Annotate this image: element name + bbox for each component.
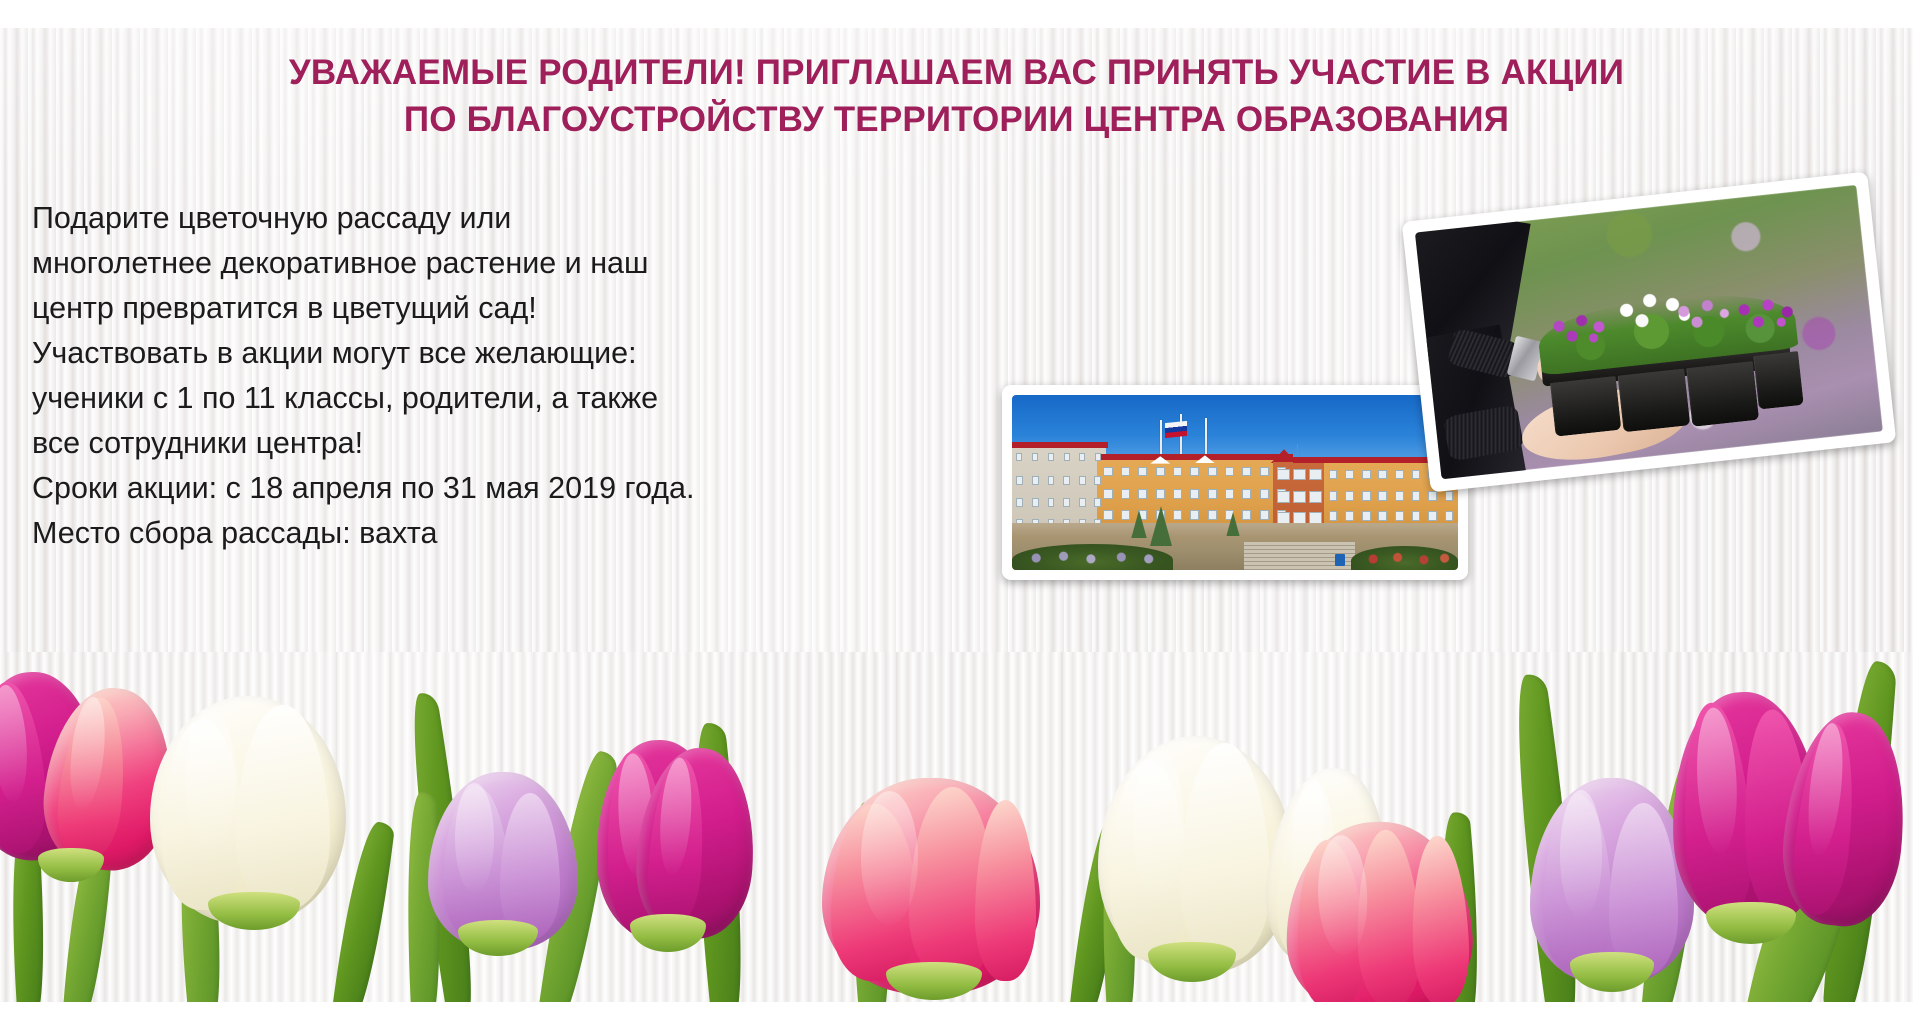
school-photo-image [1012, 395, 1458, 570]
window-row [1329, 491, 1454, 501]
blue-sign-board [1335, 554, 1345, 566]
window-row [1103, 489, 1286, 499]
window-row [1277, 469, 1322, 480]
top-white-band [0, 0, 1913, 28]
tray-cell [1618, 368, 1690, 432]
russian-flag-icon [1165, 421, 1187, 438]
flower-seedlings-photo [1402, 172, 1897, 493]
red-flowers [1360, 551, 1454, 567]
window-row [1103, 467, 1286, 476]
fir-tree-icon [1226, 512, 1239, 536]
window-row [1016, 476, 1101, 485]
fir-tree-icon [1131, 510, 1146, 538]
tray-cell [1753, 351, 1803, 410]
fir-tree-icon [1150, 506, 1172, 546]
tray-cell [1550, 376, 1622, 437]
page-title: УВАЖАЕМЫЕ РОДИТЕЛИ! ПРИГЛАШАЕМ ВАС ПРИНЯ… [0, 50, 1913, 143]
announcement-body-text: Подарите цветочную рассаду или многолетн… [32, 196, 852, 556]
window-row [1016, 498, 1101, 507]
poster-canvas: УВАЖАЕМЫЕ РОДИТЕЛИ! ПРИГЛАШАЕМ ВАС ПРИНЯ… [0, 0, 1913, 1030]
window-row [1016, 453, 1101, 461]
tulip-bottom-border [0, 652, 1913, 1002]
seedlings-photo-image [1415, 185, 1883, 480]
tray-cell [1686, 361, 1759, 427]
left-wing-roof [1012, 442, 1108, 448]
window-row [1329, 511, 1454, 521]
school-building-photo [1002, 385, 1468, 580]
bottom-white-band [0, 1002, 1913, 1030]
iris-flowers [1021, 549, 1173, 567]
window-row [1277, 491, 1322, 503]
tulip-flower [150, 696, 346, 924]
